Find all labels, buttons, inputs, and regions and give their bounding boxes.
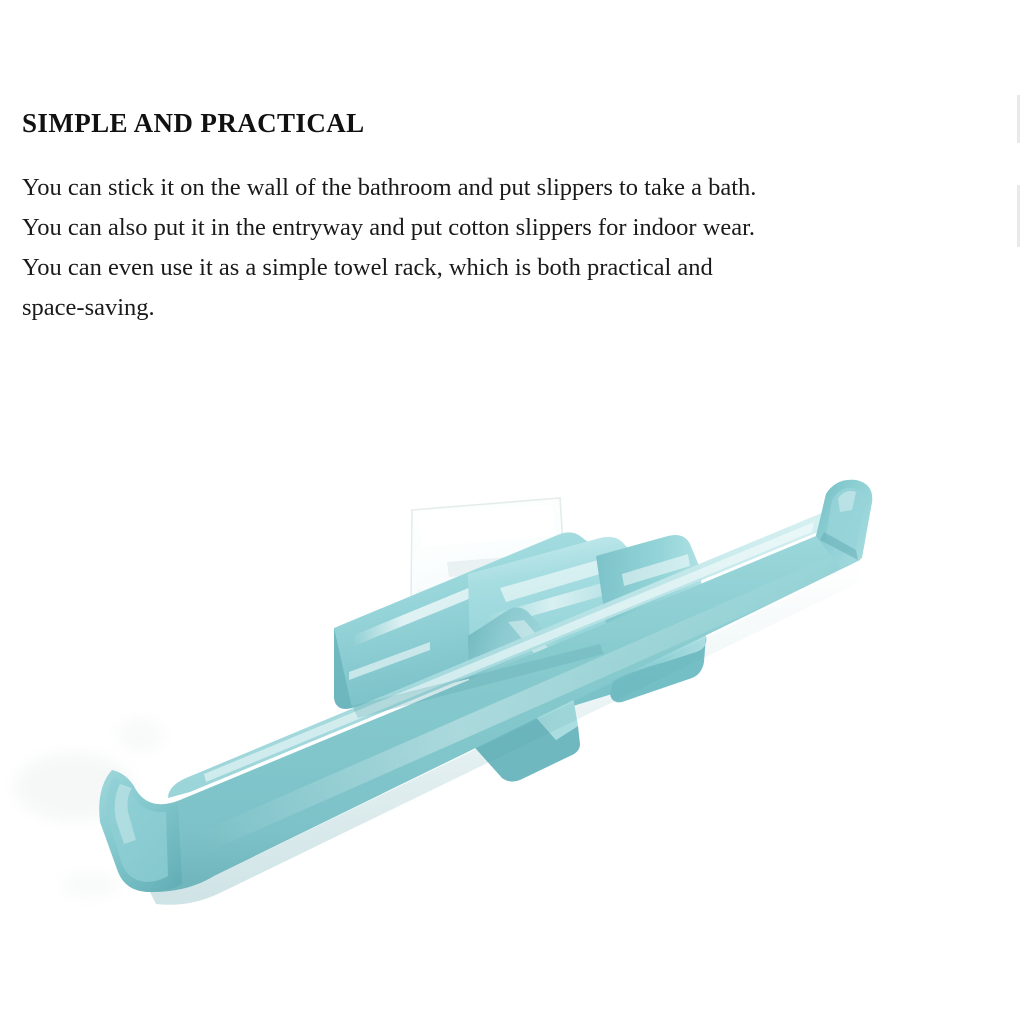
product-description-page: SIMPLE AND PRACTICAL You can stick it on… [0, 0, 1024, 1024]
description-line-3: You can even use it as a simple towel ra… [22, 248, 972, 288]
description-line-4: space-saving. [22, 288, 972, 328]
product-image [0, 440, 1024, 960]
description-line-2: You can also put it in the entryway and … [22, 208, 972, 248]
page-edge-artifact-top [1017, 95, 1020, 143]
description-line-1: You can stick it on the wall of the bath… [22, 168, 972, 208]
page-title: SIMPLE AND PRACTICAL [22, 108, 365, 139]
description-paragraph: You can stick it on the wall of the bath… [22, 168, 972, 328]
page-edge-artifact-bottom [1017, 185, 1020, 247]
